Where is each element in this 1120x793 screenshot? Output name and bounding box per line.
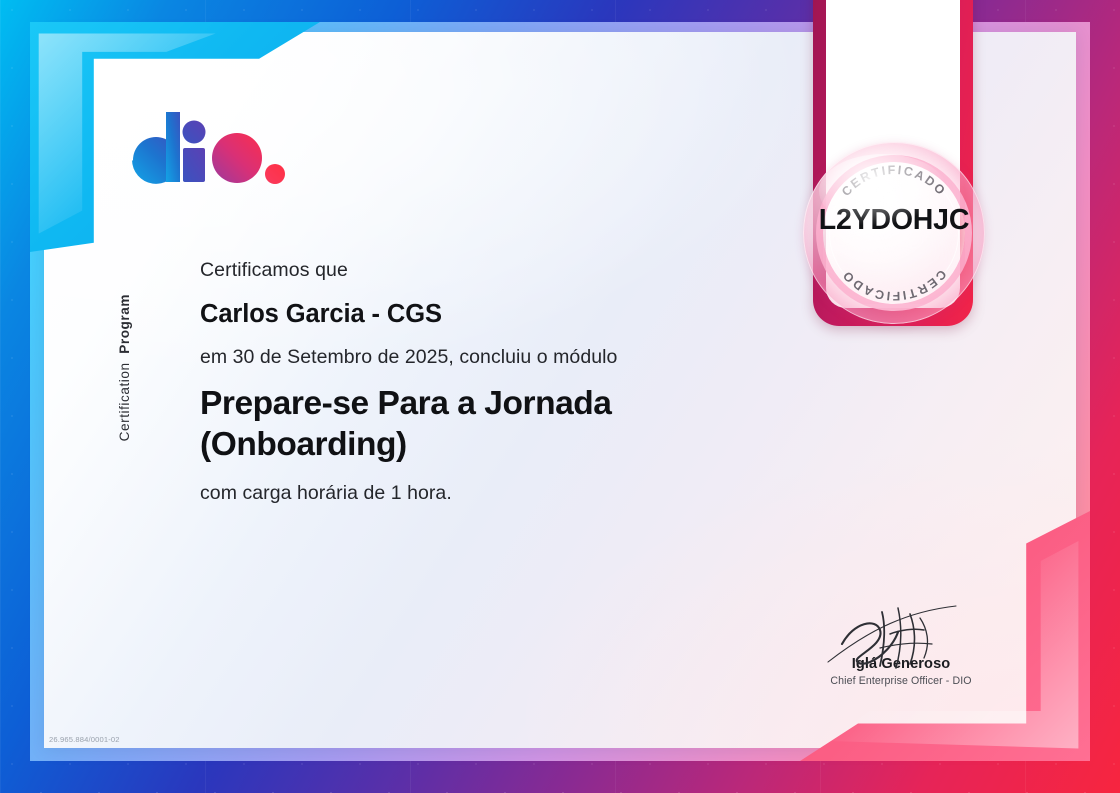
intro-line: Certificamos que: [200, 258, 800, 283]
svg-text:CERTIFICADO: CERTIFICADO: [839, 163, 949, 199]
certification-program-label: Certification Program: [104, 278, 144, 458]
workload-line: com carga horária de 1 hora.: [200, 482, 800, 505]
seal-arc-top-label: CERTIFICADO: [839, 163, 949, 199]
signature-block: Iglá Generoso Chief Enterprise Officer -…: [800, 608, 1002, 687]
course-title: Prepare-se Para a Jornada (Onboarding): [200, 384, 700, 466]
certificate-code: L2YDOHJC: [803, 204, 985, 237]
recipient-name: Carlos Garcia - CGS: [200, 300, 800, 329]
dio-logo: [118, 108, 290, 191]
signatory-role: Chief Enterprise Officer - DIO: [800, 675, 1002, 687]
side-label-word-2: Program: [117, 294, 132, 354]
signature-icon: [800, 608, 1002, 664]
certificate-body: Certificamos que Carlos Garcia - CGS em …: [200, 258, 800, 505]
certificate-document: CERTIFICADO CERTIFICADO L2YDOHJC Certifi…: [0, 0, 1120, 793]
date-line: em 30 de Setembro de 2025, concluiu o mó…: [200, 346, 800, 369]
seal-arc-bottom-label: CERTIFICADO: [839, 267, 949, 303]
registration-number: 26.965.884/0001-02: [49, 735, 120, 744]
svg-text:CERTIFICADO: CERTIFICADO: [839, 267, 949, 303]
certificate-seal-icon: CERTIFICADO CERTIFICADO L2YDOHJC: [803, 142, 985, 324]
side-label-word-1: Certification: [117, 363, 132, 442]
